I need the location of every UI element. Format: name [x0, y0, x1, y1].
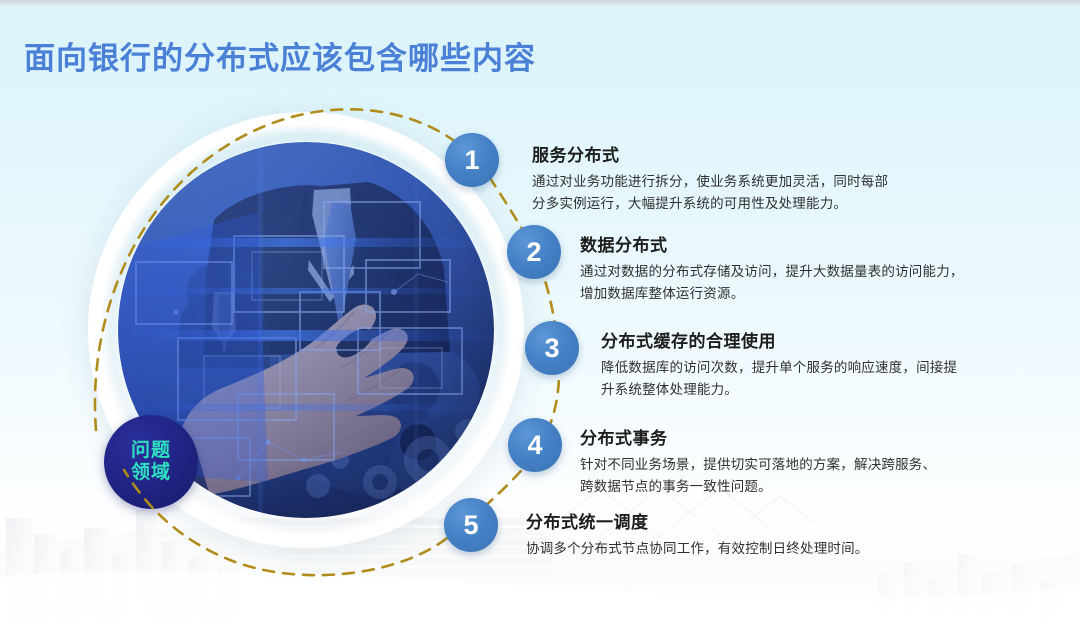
step-badge-3[interactable]: 3 — [525, 321, 579, 375]
step-item-1: 服务分布式 通过对业务功能进行拆分，使业务系统更加灵活，同时每部 分多实例运行，… — [532, 141, 888, 215]
step-desc-3: 降低数据库的访问次数，提升单个服务的响应速度，间接提 升系统整体处理能力。 — [601, 357, 957, 401]
step-title-4: 分布式事务 — [580, 424, 936, 449]
top-grey-strip — [0, 0, 1080, 6]
problem-domain-line2: 领域 — [131, 462, 171, 484]
step-item-2: 数据分布式 通过对数据的分布式存储及访问，提升大数据量表的访问能力， 增加数据库… — [580, 231, 964, 305]
step-item-4: 分布式事务 针对不同业务场景，提供切实可落地的方案，解决跨服务、 跨数据节点的事… — [580, 424, 936, 498]
problem-domain-line1: 问题 — [131, 440, 171, 462]
page-title: 面向银行的分布式应该包含哪些内容 — [24, 33, 536, 78]
step-title-1: 服务分布式 — [532, 141, 888, 166]
step-badge-5[interactable]: 5 — [444, 498, 498, 552]
step-desc-1: 通过对业务功能进行拆分，使业务系统更加灵活，同时每部 分多实例运行，大幅提升系统… — [532, 171, 888, 215]
step-title-5: 分布式统一调度 — [526, 508, 869, 533]
step-item-3: 分布式缓存的合理使用 降低数据库的访问次数，提升单个服务的响应速度，间接提 升系… — [601, 327, 957, 401]
slide-canvas: 面向银行的分布式应该包含哪些内容 — [0, 0, 1080, 628]
step-badge-4[interactable]: 4 — [508, 418, 562, 472]
step-title-3: 分布式缓存的合理使用 — [601, 327, 957, 352]
step-desc-2: 通过对数据的分布式存储及访问，提升大数据量表的访问能力， 增加数据库整体运行资源… — [580, 261, 964, 305]
problem-domain-badge: 问题 领域 — [104, 415, 198, 509]
step-item-5: 分布式统一调度 协调多个分布式节点协同工作，有效控制日终处理时间。 — [526, 508, 869, 560]
step-desc-4: 针对不同业务场景，提供切实可落地的方案，解决跨服务、 跨数据节点的事务一致性问题… — [580, 454, 936, 498]
step-badge-1[interactable]: 1 — [445, 133, 499, 187]
step-badge-2[interactable]: 2 — [507, 225, 561, 279]
step-title-2: 数据分布式 — [580, 231, 964, 256]
step-desc-5: 协调多个分布式节点协同工作，有效控制日终处理时间。 — [526, 538, 869, 560]
